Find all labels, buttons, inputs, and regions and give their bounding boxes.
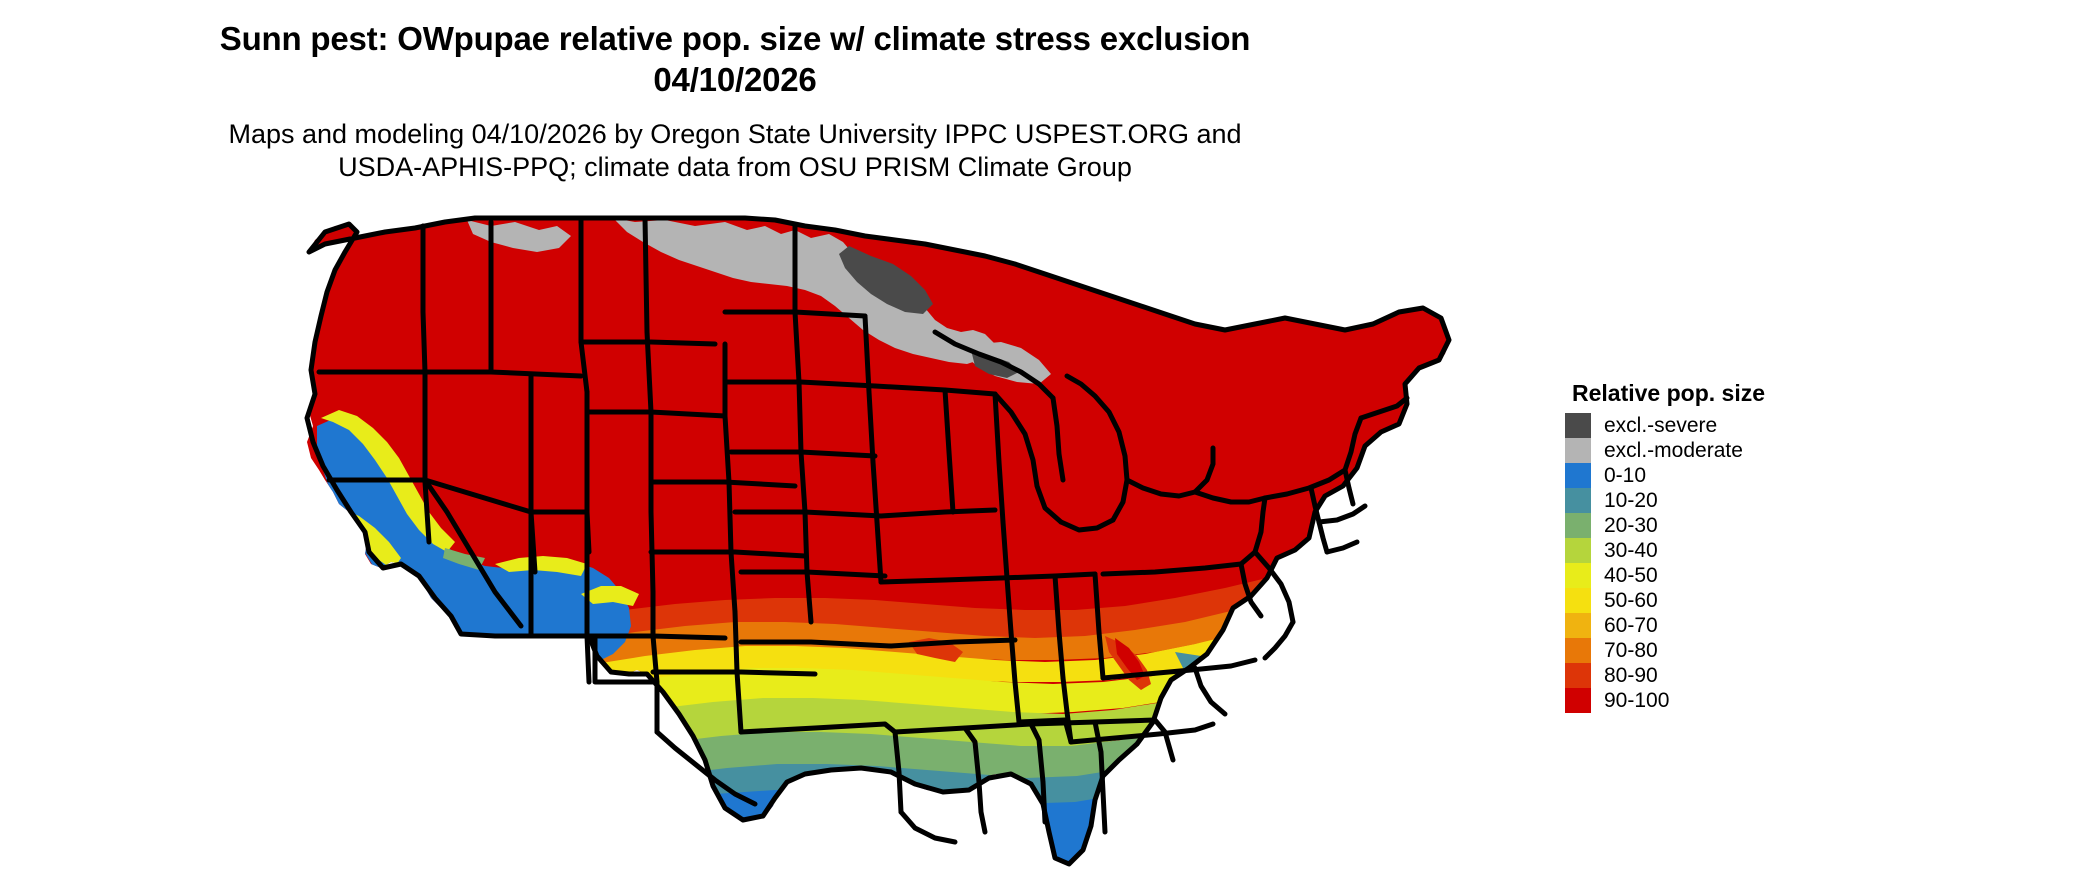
legend-swatch [1565, 638, 1591, 663]
legend-row: excl.-moderate [1565, 438, 1765, 463]
subtitle-line-2: USDA-APHIS-PPQ; climate data from OSU PR… [0, 151, 1470, 184]
legend-label: 0-10 [1604, 463, 1646, 488]
legend-row: 40-50 [1565, 563, 1765, 588]
band-10-20-carolina [1175, 652, 1251, 704]
map-page: Sunn pest: OWpupae relative pop. size w/… [0, 0, 2100, 892]
legend-label: 10-20 [1604, 488, 1658, 513]
page-subtitle: Maps and modeling 04/10/2026 by Oregon S… [0, 118, 1470, 184]
title-line-2: 04/10/2026 [0, 59, 1470, 100]
legend-label: 80-90 [1604, 663, 1658, 688]
legend-row: 80-90 [1565, 663, 1765, 688]
legend-label: 30-40 [1604, 538, 1658, 563]
legend-swatch [1565, 563, 1591, 588]
legend-swatch [1565, 488, 1591, 513]
legend-swatch [1565, 438, 1591, 463]
legend-row: 70-80 [1565, 638, 1765, 663]
map-raster-layer [295, 212, 1525, 872]
legend-swatch [1565, 538, 1591, 563]
legend-title: Relative pop. size [1572, 380, 1765, 407]
legend-label: 50-60 [1604, 588, 1658, 613]
legend-label: 40-50 [1604, 563, 1658, 588]
legend-swatch [1565, 463, 1591, 488]
map-svg [295, 212, 1525, 872]
title-line-1: Sunn pest: OWpupae relative pop. size w/… [0, 18, 1470, 59]
legend-swatch [1565, 588, 1591, 613]
legend-row: 30-40 [1565, 538, 1765, 563]
legend-row: excl.-severe [1565, 413, 1765, 438]
legend-label: 60-70 [1604, 613, 1658, 638]
legend-swatch [1565, 613, 1591, 638]
legend-row: 10-20 [1565, 488, 1765, 513]
legend-swatch [1565, 688, 1591, 713]
legend-row: 20-30 [1565, 513, 1765, 538]
map-legend: Relative pop. size excl.-severeexcl.-mod… [1565, 380, 1765, 713]
legend-items: excl.-severeexcl.-moderate0-1010-2020-30… [1565, 413, 1765, 713]
page-title: Sunn pest: OWpupae relative pop. size w/… [0, 18, 1470, 100]
legend-row: 50-60 [1565, 588, 1765, 613]
legend-swatch [1565, 513, 1591, 538]
legend-row: 0-10 [1565, 463, 1765, 488]
legend-label: 70-80 [1604, 638, 1658, 663]
legend-row: 90-100 [1565, 688, 1765, 713]
legend-label: 90-100 [1604, 688, 1669, 713]
subtitle-line-1: Maps and modeling 04/10/2026 by Oregon S… [0, 118, 1470, 151]
legend-label: excl.-moderate [1604, 438, 1743, 463]
legend-swatch [1565, 413, 1591, 438]
legend-row: 60-70 [1565, 613, 1765, 638]
legend-label: 20-30 [1604, 513, 1658, 538]
legend-label: excl.-severe [1604, 413, 1717, 438]
legend-swatch [1565, 663, 1591, 688]
us-choropleth-map [295, 212, 1525, 872]
